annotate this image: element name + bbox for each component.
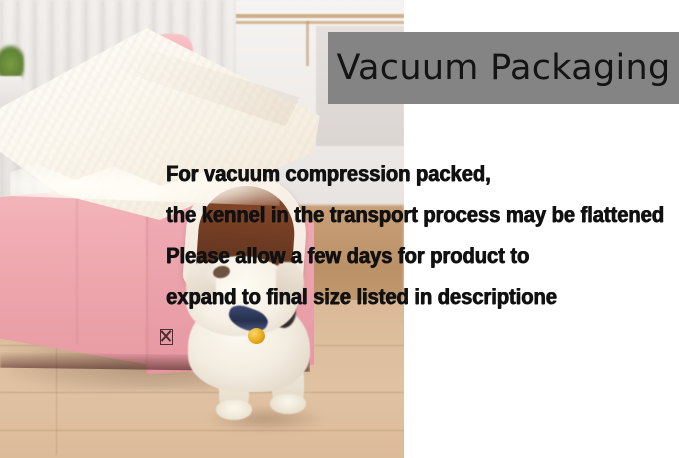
cabinet-trim-top [236, 14, 404, 18]
dog-collar-bell [248, 328, 265, 344]
dog-right-paw [270, 394, 306, 414]
kennel-seam [76, 196, 78, 344]
dog-left-paw [216, 400, 252, 420]
notice-line-1: For vacuum compression packed, [166, 153, 663, 194]
notice-line-4: expand to final size listed in descripti… [166, 276, 663, 317]
kennel-corner-seam [146, 190, 148, 374]
screenshot-canvas: Vacuum Packaging For vacuum compression … [0, 0, 679, 458]
cabinet-trim-horizontal [236, 21, 404, 24]
missing-glyph-icon [160, 329, 173, 345]
title-banner: Vacuum Packaging [328, 32, 679, 104]
notice-text-block: For vacuum compression packed, the kenne… [166, 153, 679, 317]
cabinet-trim-vertical [306, 21, 309, 66]
floor-seam [0, 430, 404, 431]
page-title: Vacuum Packaging [337, 48, 671, 88]
floor-seam [0, 392, 404, 393]
notice-line-3: Please allow a few days for product to [166, 235, 663, 276]
notice-line-2: the kennel in the transport process may … [166, 194, 663, 235]
